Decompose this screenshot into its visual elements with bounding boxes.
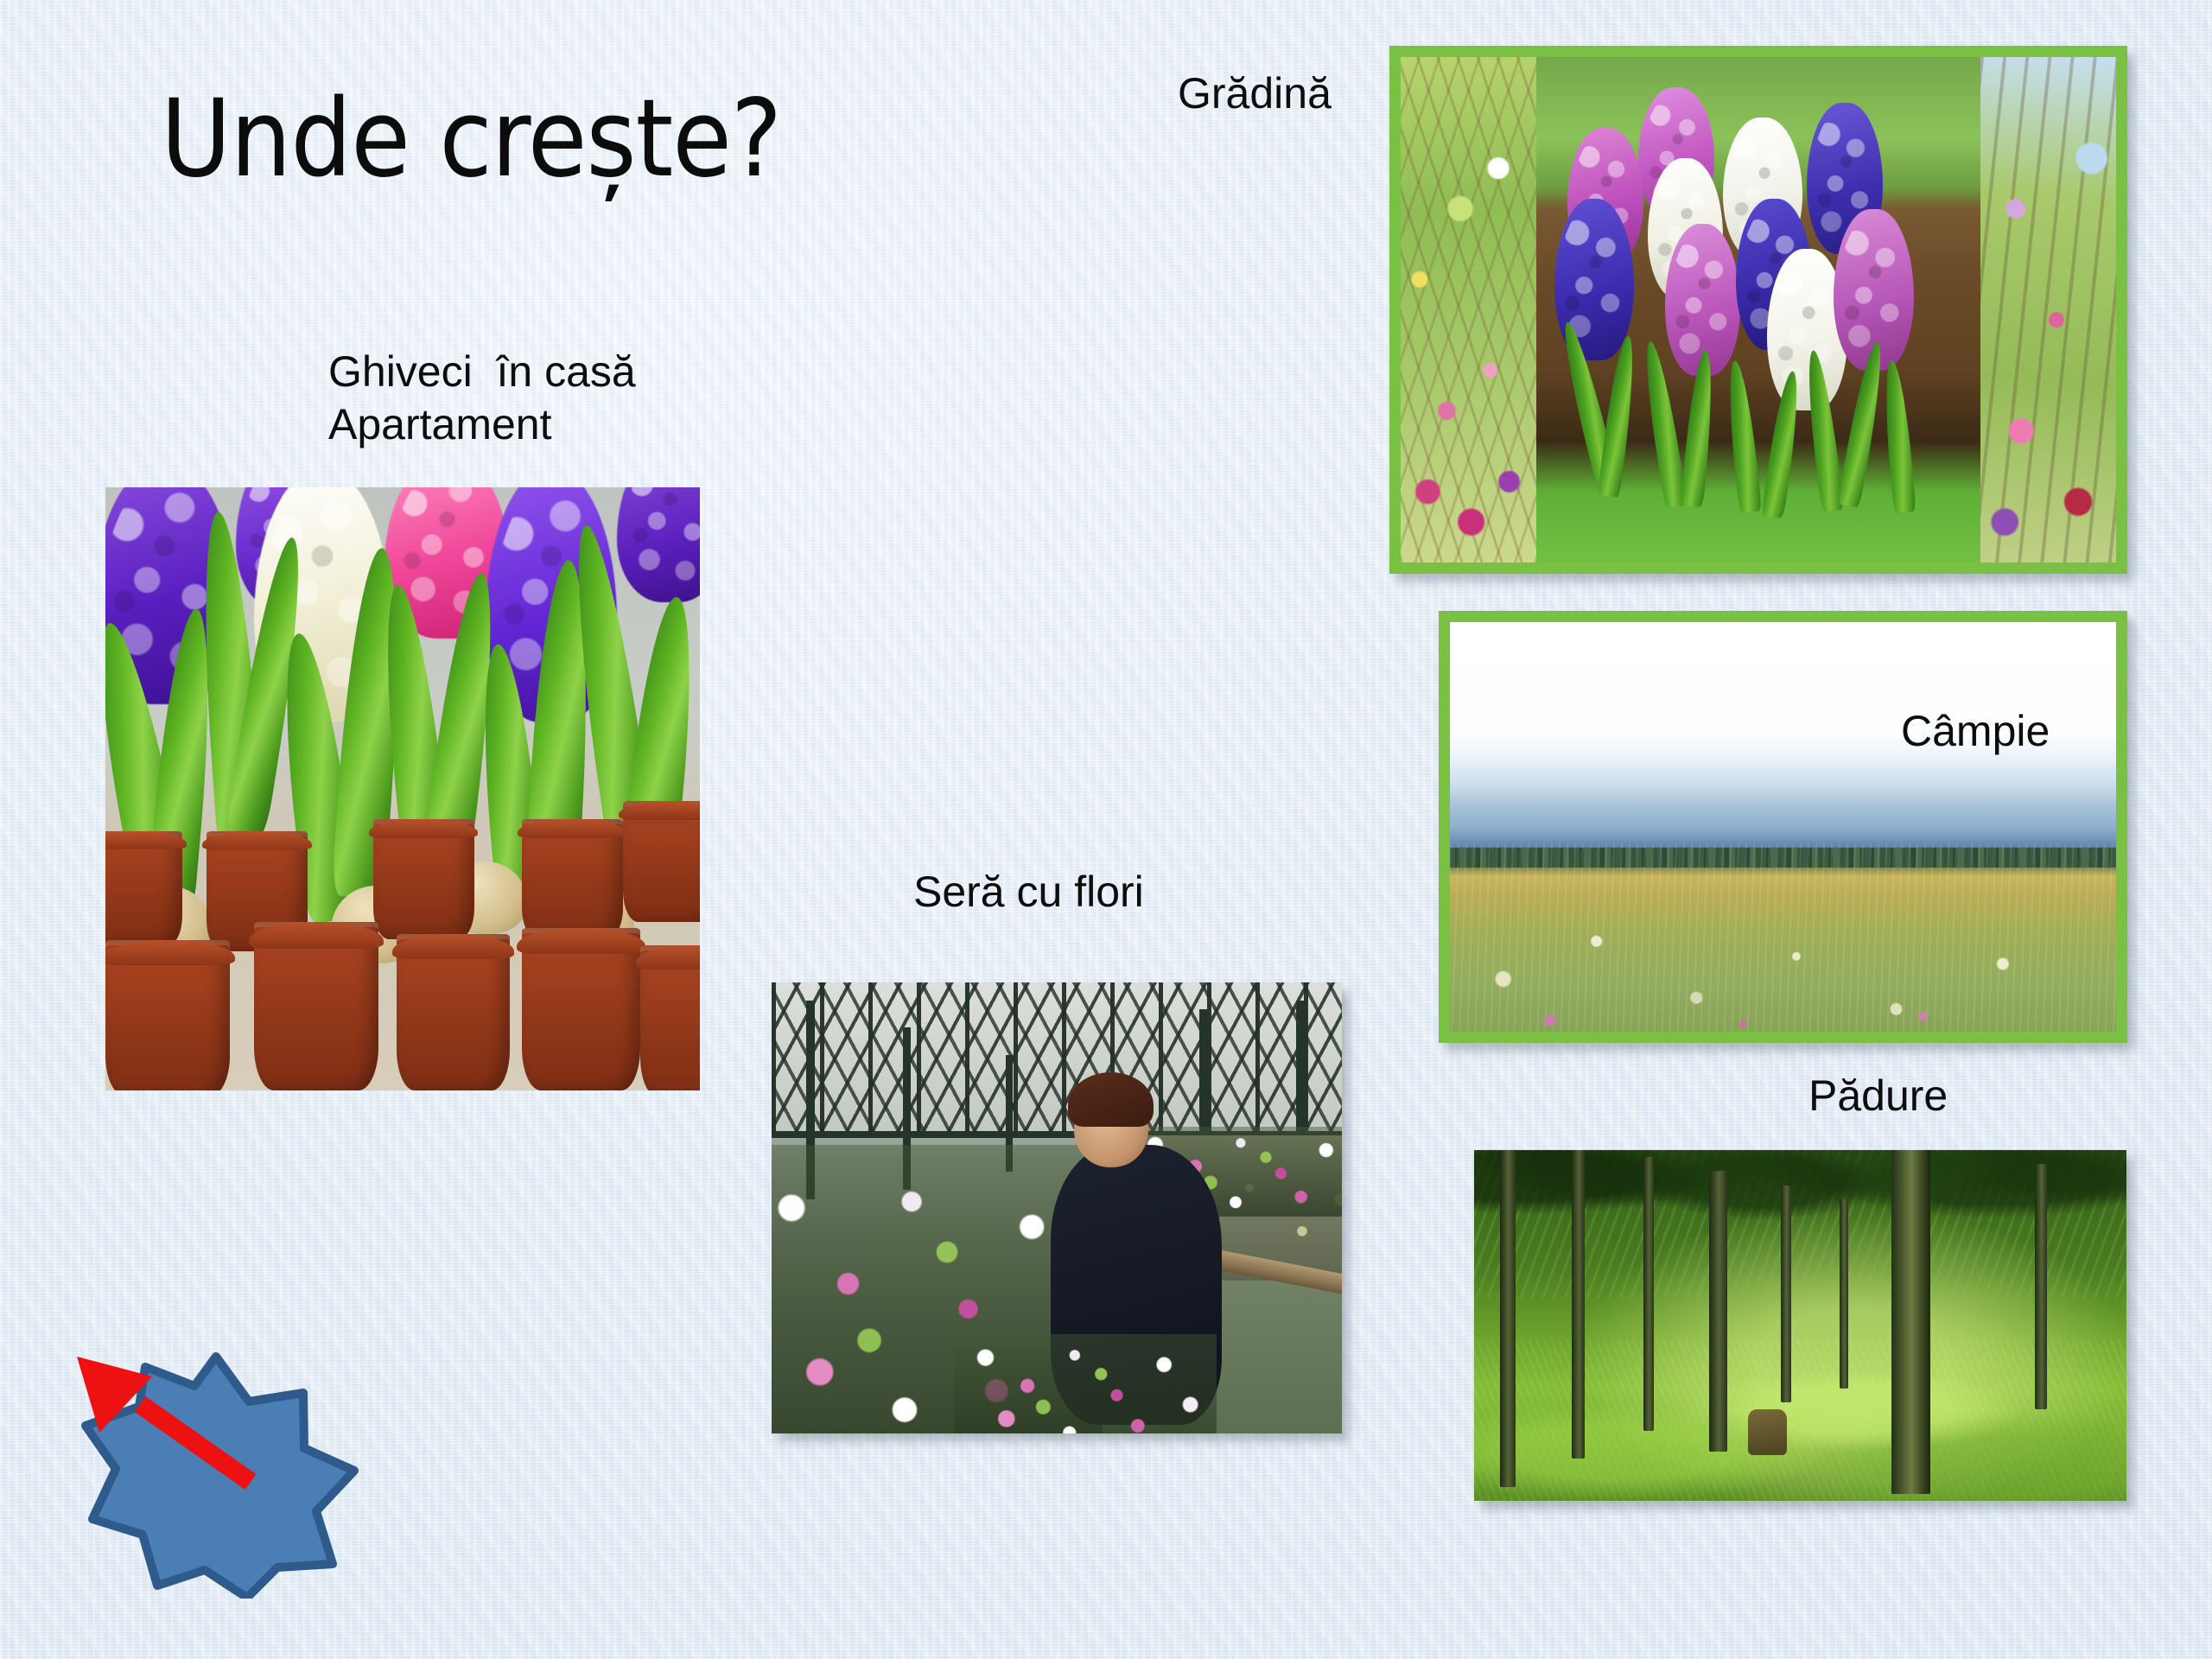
label-padure: Pădure	[1808, 1070, 1948, 1122]
label-campie: Câmpie	[1901, 705, 2050, 758]
flower-pot	[623, 801, 700, 922]
label-gradina: Grădină	[1178, 67, 1332, 120]
leaf	[1880, 359, 1916, 512]
flower-pot	[522, 819, 623, 940]
picture-apartament	[105, 487, 700, 1090]
picture-sera	[772, 982, 1342, 1433]
collage-center-panel	[1536, 57, 1980, 563]
label-sera: Seră cu flori	[913, 866, 1144, 918]
page-title: Unde crește?	[161, 83, 1111, 195]
picture-gradina-content	[1401, 57, 2116, 563]
picture-apartament-content	[105, 487, 700, 1090]
flower-pot	[397, 934, 510, 1090]
picture-gradina	[1389, 46, 2127, 574]
tree-trunk	[1500, 1150, 1516, 1487]
picture-campie-content	[1450, 622, 2116, 1032]
tree-trunk	[2035, 1164, 2047, 1409]
flower-pot	[640, 945, 700, 1090]
decoration-star-arrow	[48, 1339, 376, 1599]
picture-padure	[1474, 1150, 2126, 1501]
leaf	[1724, 359, 1762, 512]
picture-campie	[1439, 611, 2127, 1043]
tree-trunk-main	[1891, 1150, 1930, 1494]
tree-trunk	[1840, 1199, 1849, 1389]
flower-pot	[254, 922, 378, 1090]
picture-sera-content	[772, 982, 1342, 1433]
tree-stump	[1748, 1409, 1787, 1455]
picture-padure-content	[1474, 1150, 2126, 1501]
greenhouse-roof	[772, 982, 1342, 1135]
field-wildflowers	[1450, 843, 2116, 1032]
greenhouse-foreground-flowers	[954, 1334, 1217, 1433]
slide-canvas: Unde crește?	[0, 0, 2212, 1659]
flower-pot	[373, 819, 474, 940]
label-apartament: Ghiveci în casă Apartament	[328, 346, 636, 451]
collage-left-panel	[1401, 57, 1536, 563]
tree-trunk	[1643, 1157, 1654, 1431]
tree-trunk	[1781, 1185, 1791, 1403]
tree-trunk	[1572, 1150, 1585, 1459]
flower-pot	[105, 940, 230, 1091]
flower-pot	[105, 831, 182, 946]
flower-pot	[522, 928, 641, 1090]
tree-trunk	[1709, 1171, 1727, 1452]
collage-right-panel	[1980, 57, 2116, 563]
